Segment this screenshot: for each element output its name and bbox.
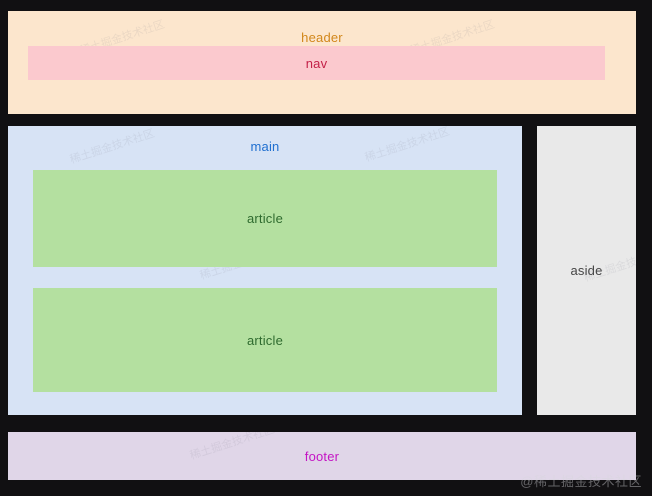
article-label: article [247, 212, 283, 225]
main-region: main 稀土掘金技术社区 稀土掘金技术社区 稀土掘金技术社区 稀土掘金技术社区… [8, 126, 522, 415]
footer-region: footer 稀土掘金技术社区 [8, 432, 636, 480]
article-region: article [33, 170, 497, 267]
main-label: main [8, 140, 522, 153]
article-label: article [247, 334, 283, 347]
footer-label: footer [305, 450, 339, 463]
nav-region: nav [28, 46, 605, 80]
header-label: header [301, 31, 343, 44]
nav-label: nav [306, 57, 328, 70]
aside-label: aside [570, 264, 602, 277]
article-region: article [33, 288, 497, 392]
layout-diagram: header 稀土掘金技术社区 稀土掘金技术社区 nav main 稀土掘金技术… [0, 0, 652, 496]
aside-region: aside 稀土掘金技术社区 [537, 126, 636, 415]
watermark-text: 稀土掘金技术社区 [188, 432, 277, 463]
